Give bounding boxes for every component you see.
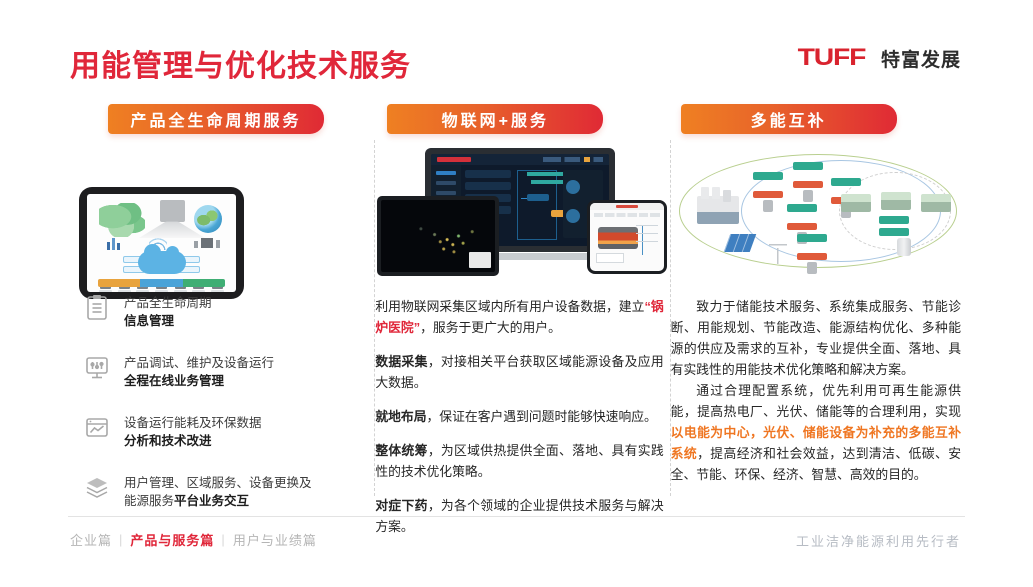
visual-energy-network (675, 150, 963, 272)
feature-text: 用户管理、区域服务、设备更换及 能源服务平台业务交互 (124, 474, 312, 510)
network-node (753, 172, 783, 212)
china-map-graphic (99, 203, 145, 237)
feature-line-1: 用户管理、区域服务、设备更换及 (124, 476, 312, 490)
breadcrumb-item-product-service[interactable]: 产品与服务篇 (130, 530, 214, 549)
phone-info-box (596, 253, 624, 263)
globe-graphic (194, 205, 222, 233)
gauge-widget (566, 209, 580, 223)
network-node-hub (879, 216, 909, 236)
dashboard-nav (543, 157, 603, 162)
gauge-widget (566, 180, 580, 194)
boiler-schematic (598, 227, 638, 249)
sidebar-item (436, 181, 456, 185)
ribbon-header-3: 多能互补 (681, 104, 897, 134)
paragraph-body: ，提高经济和社会效益，达到清洁、低碳、安全、节能、环保、经济、智慧、高效的目的。 (671, 446, 961, 482)
breadcrumb-item-company[interactable]: 企业篇 (70, 530, 112, 549)
feature-text: 设备运行能耗及环保数据 分析和技术改进 (124, 414, 262, 450)
feature-line-2-prefix: 能源服务 (124, 494, 174, 508)
feature-text: 产品全生命周期 信息管理 (124, 294, 212, 330)
visual-iot-devices (377, 148, 667, 276)
cloud-service-node (138, 251, 186, 274)
wind-turbine-icon (767, 242, 789, 264)
highlight-red: “锅炉医院” (375, 299, 663, 335)
slide-root: 用能管理与优化技术服务 TUFF 特富发展 产品全生命周期服务 (0, 0, 1033, 587)
breadcrumb-item-customer-performance[interactable]: 用户与业绩篇 (233, 530, 317, 549)
phone-topbar (590, 203, 664, 210)
feature-line-2: 信息管理 (124, 314, 174, 328)
dashboard-logo (437, 157, 471, 162)
column-multi-energy: 多能互补 致力于储能技术服务、系统集成服务、节能诊 (671, 104, 965, 506)
paragraph-list-multi-energy: 致力于储能技术服务、系统集成服务、节能诊断、用能规划、节能改造、能源结构优化、多… (671, 296, 965, 485)
plant-tower-graphic (107, 238, 121, 250)
power-plant-icon (697, 196, 739, 224)
feature-line-1: 产品调试、维护及设备运行 (124, 356, 274, 370)
network-node (797, 234, 827, 274)
breadcrumb: 企业篇 | 产品与服务篇 | 用户与业绩篇 (70, 530, 317, 549)
tablet-screen-map (381, 200, 495, 272)
paragraph: 整体统筹，为区域供热提供全面、落地、具有实践性的技术优化策略。 (375, 440, 669, 482)
building-icon (881, 192, 911, 210)
feature-line-1: 产品全生命周期 (124, 296, 212, 310)
clipboard-icon (84, 294, 110, 322)
building-icon (921, 194, 951, 212)
feature-list: 产品全生命周期 信息管理 产品调试、维护及设备运行 (84, 294, 374, 534)
chart-window-icon (84, 414, 110, 442)
paragraph: 致力于储能技术服务、系统集成服务、节能诊断、用能规划、节能改造、能源结构优化、多… (671, 296, 965, 380)
page-title: 用能管理与优化技术服务 (70, 41, 411, 85)
ribbon-header-1: 产品全生命周期服务 (108, 104, 324, 134)
tablet-device (79, 187, 244, 299)
logo-chinese-name: 特富发展 (881, 45, 961, 72)
paragraph: 就地布局，保证在客户遇到问题时能够快速响应。 (375, 406, 669, 427)
devices-graphic (194, 238, 220, 250)
feature-item-data-analysis: 设备运行能耗及环保数据 分析和技术改进 (84, 414, 374, 450)
lead-term: 对症下药 (375, 498, 428, 513)
building-icon (841, 194, 871, 212)
paragraph: 利用物联网采集区域内所有用户设备数据，建立“锅炉医院”，服务于更广大的用户。 (375, 296, 669, 338)
footer-divider (68, 516, 965, 517)
monitor-settings-icon (84, 354, 110, 382)
paragraph: 数据采集，对接相关平台获取区域能源设备及应用大数据。 (375, 351, 669, 393)
network-node (793, 162, 823, 202)
map-legend (469, 252, 491, 268)
server-box-graphic (160, 200, 185, 222)
breadcrumb-separator: | (221, 532, 225, 547)
feature-text: 产品调试、维护及设备运行 全程在线业务管理 (124, 354, 274, 390)
feature-line-1: 设备运行能耗及环保数据 (124, 416, 262, 430)
lead-term: 整体统筹 (375, 443, 428, 458)
sidebar-item (436, 191, 456, 195)
phone-screen-boiler (590, 203, 664, 271)
phone-tab-row (594, 213, 660, 217)
paragraph-list-iot: 利用物联网采集区域内所有用户设备数据，建立“锅炉医院”，服务于更广大的用户。 数… (375, 296, 669, 550)
tablet-screen (87, 194, 236, 292)
legend-bar (98, 279, 225, 287)
feature-item-lifecycle-info: 产品全生命周期 信息管理 (84, 294, 374, 330)
feature-line-2: 平台业务交互 (174, 494, 249, 508)
diagram-node (527, 194, 549, 201)
storage-tank-icon (897, 238, 911, 256)
three-column-layout: 产品全生命周期服务 (70, 104, 965, 506)
phone-device (587, 200, 667, 274)
tablet-device-map (377, 196, 499, 276)
sidebar-item (436, 171, 456, 175)
feature-item-platform-interaction: 用户管理、区域服务、设备更换及 能源服务平台业务交互 (84, 474, 374, 510)
layers-icon (84, 474, 110, 502)
feature-item-online-management: 产品调试、维护及设备运行 全程在线业务管理 (84, 354, 374, 390)
ribbon-header-2: 物联网+服务 (387, 104, 603, 134)
footer-tagline: 工业洁净能源利用先行者 (796, 531, 961, 550)
feature-line-2: 分析和技术改进 (124, 434, 212, 448)
brand-logo: TUFF 特富发展 (809, 44, 961, 72)
phone-chart-lines (636, 225, 658, 255)
logo-wordmark: TUFF (797, 44, 872, 72)
lead-term: 数据采集 (375, 354, 428, 369)
column-iot-service: 物联网+服务 (375, 104, 669, 506)
paragraph-body: ，保证在客户遇到问题时能够快速响应。 (427, 409, 657, 424)
feature-line-2: 全程在线业务管理 (124, 374, 224, 388)
lead-term: 就地布局 (375, 409, 426, 424)
column-product-lifecycle: 产品全生命周期服务 (70, 104, 374, 506)
paragraph-body: 通过合理配置系统，优先利用可再生能源供能，提高热电厂、光伏、储能等的合理利用，实… (671, 383, 961, 419)
paragraph: 通过合理配置系统，优先利用可再生能源供能，提高热电厂、光伏、储能等的合理利用，实… (671, 380, 965, 485)
breadcrumb-separator: | (119, 532, 123, 547)
